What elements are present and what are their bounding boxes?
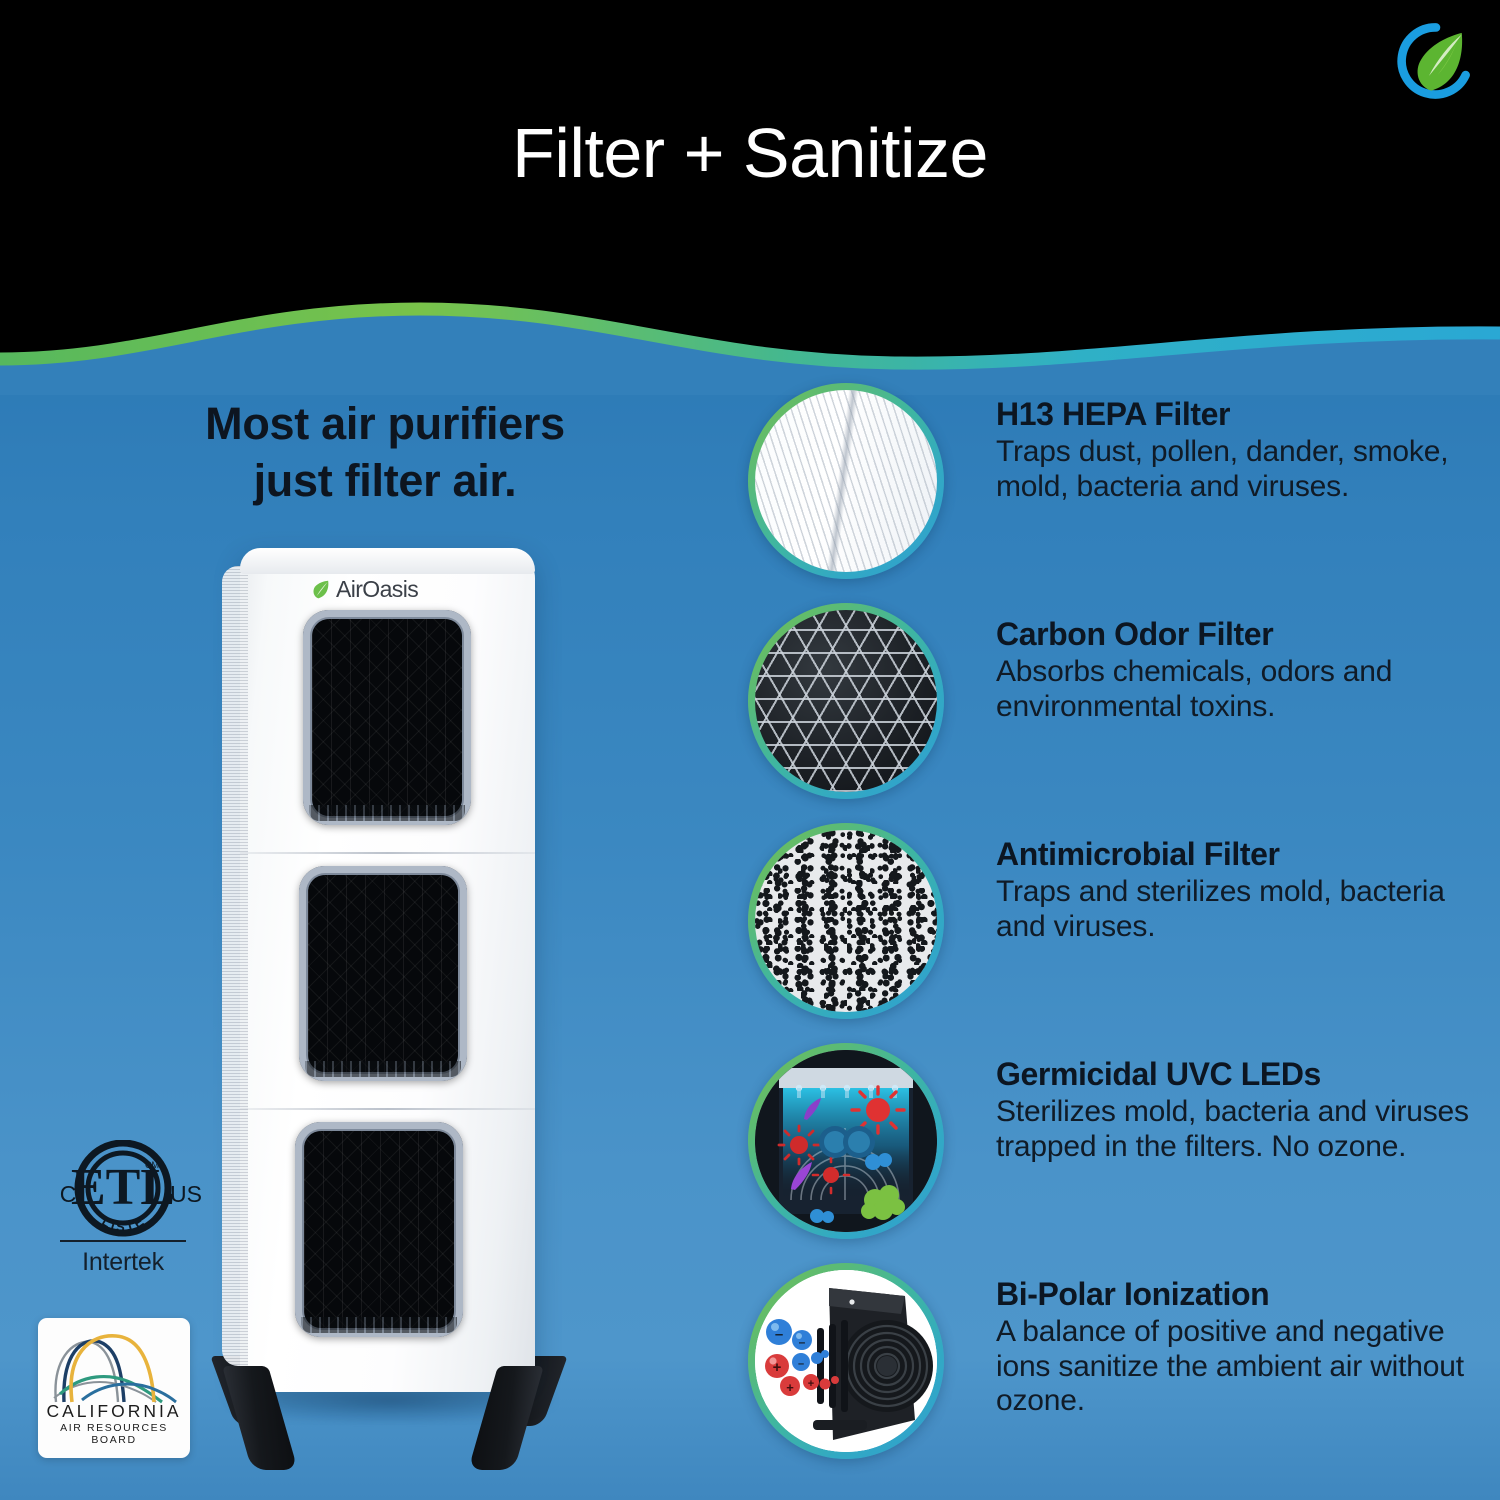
uvc-led-illustration-icon xyxy=(748,1043,944,1239)
feature-item: Germicidal UVC LEDs Sterilizes mold, bac… xyxy=(748,1043,1488,1263)
leaf-icon xyxy=(310,578,332,600)
device-seam-upper xyxy=(240,852,535,854)
device-side-vents xyxy=(222,566,248,1366)
grille-mesh xyxy=(304,1131,454,1328)
feature-list: H13 HEPA Filter Traps dust, pollen, dand… xyxy=(748,383,1488,1493)
intertek-label: Intertek xyxy=(38,1248,208,1277)
carb-arcs-icon xyxy=(38,1324,190,1406)
etl-listed-badge: ETL C US CM LISTED Intertek xyxy=(38,1140,208,1290)
feature-title: Carbon Odor Filter xyxy=(996,617,1476,653)
svg-text:+: + xyxy=(808,1378,814,1390)
grille-mesh xyxy=(312,619,462,816)
left-headline: Most air purifiers just filter air. xyxy=(55,395,715,509)
hepa-pleat-texture xyxy=(755,390,937,572)
feature-title: Antimicrobial Filter xyxy=(996,837,1476,873)
grille-vent xyxy=(301,1317,457,1333)
svg-text:–: – xyxy=(775,1326,783,1343)
uvc-scene xyxy=(755,1050,937,1232)
feature-item: Antimicrobial Filter Traps and sterilize… xyxy=(748,823,1488,1043)
feature-title: H13 HEPA Filter xyxy=(996,397,1476,433)
etl-mark-icon: ETL C US CM LISTED xyxy=(38,1140,208,1246)
etl-us-letters: US xyxy=(170,1181,202,1207)
svg-text:–: – xyxy=(799,1335,806,1349)
feature-title: Germicidal UVC LEDs xyxy=(996,1057,1476,1093)
etl-letters: ETL xyxy=(71,1159,175,1216)
etl-divider xyxy=(60,1240,186,1242)
feature-title: Bi-Polar Ionization xyxy=(996,1277,1476,1313)
carbon-honeycomb-texture xyxy=(755,610,937,792)
device-top-cap xyxy=(240,548,535,574)
carb-title-line-2: AIR RESOURCES BOARD xyxy=(38,1422,190,1446)
california-air-resources-board-badge: CALIFORNIA AIR RESOURCES BOARD xyxy=(38,1318,190,1458)
device-brand-name: AirOasis xyxy=(336,576,418,603)
device-grille-middle xyxy=(299,866,467,1081)
carbon-filter-photo-icon xyxy=(748,603,944,799)
antimicrobial-speckle-texture xyxy=(755,830,937,1012)
device-seam-lower xyxy=(240,1108,535,1110)
grille-vent xyxy=(305,1061,461,1077)
product-image: AirOasis xyxy=(215,540,615,1470)
headline-line-1: Most air purifiers xyxy=(55,395,715,452)
antimicrobial-filter-photo-icon xyxy=(748,823,944,1019)
headline-line-2: just filter air. xyxy=(55,452,715,509)
feature-description: A balance of positive and negative ions … xyxy=(996,1315,1476,1419)
etl-c-letter: C xyxy=(60,1181,77,1207)
feature-description: Traps dust, pollen, dander, smoke, mold,… xyxy=(996,435,1476,505)
bipolar-ionization-illustration-icon: – – – xyxy=(748,1263,944,1459)
page-title: Filter + Sanitize xyxy=(0,118,1500,188)
wave-divider xyxy=(0,295,1500,395)
ionization-scene: – – – xyxy=(755,1270,937,1452)
feature-description: Sterilizes mold, bacteria and viruses tr… xyxy=(996,1095,1476,1165)
feature-item: – – – xyxy=(748,1263,1488,1493)
svg-text:+: + xyxy=(786,1380,794,1395)
feature-item: H13 HEPA Filter Traps dust, pollen, dand… xyxy=(748,383,1488,603)
device-grille-top xyxy=(303,610,471,825)
device-grille-bottom xyxy=(295,1122,463,1337)
feature-description: Traps and sterilizes mold, bacteria and … xyxy=(996,875,1476,945)
svg-text:+: + xyxy=(773,1359,782,1376)
carb-title-line-1: CALIFORNIA xyxy=(38,1401,190,1422)
feature-description: Absorbs chemicals, odors and environment… xyxy=(996,655,1476,725)
svg-text:–: – xyxy=(798,1358,804,1370)
hepa-filter-photo-icon xyxy=(748,383,944,579)
feature-item: Carbon Odor Filter Absorbs chemicals, od… xyxy=(748,603,1488,823)
grille-vent xyxy=(309,805,465,821)
etl-trademark: CM xyxy=(145,1160,159,1170)
device-brand-logo: AirOasis xyxy=(310,574,470,604)
infographic-canvas: Filter + Sanitize Most air xyxy=(0,0,1500,1500)
leaf-circle-logo-icon xyxy=(1397,22,1475,100)
grille-mesh xyxy=(308,875,458,1072)
